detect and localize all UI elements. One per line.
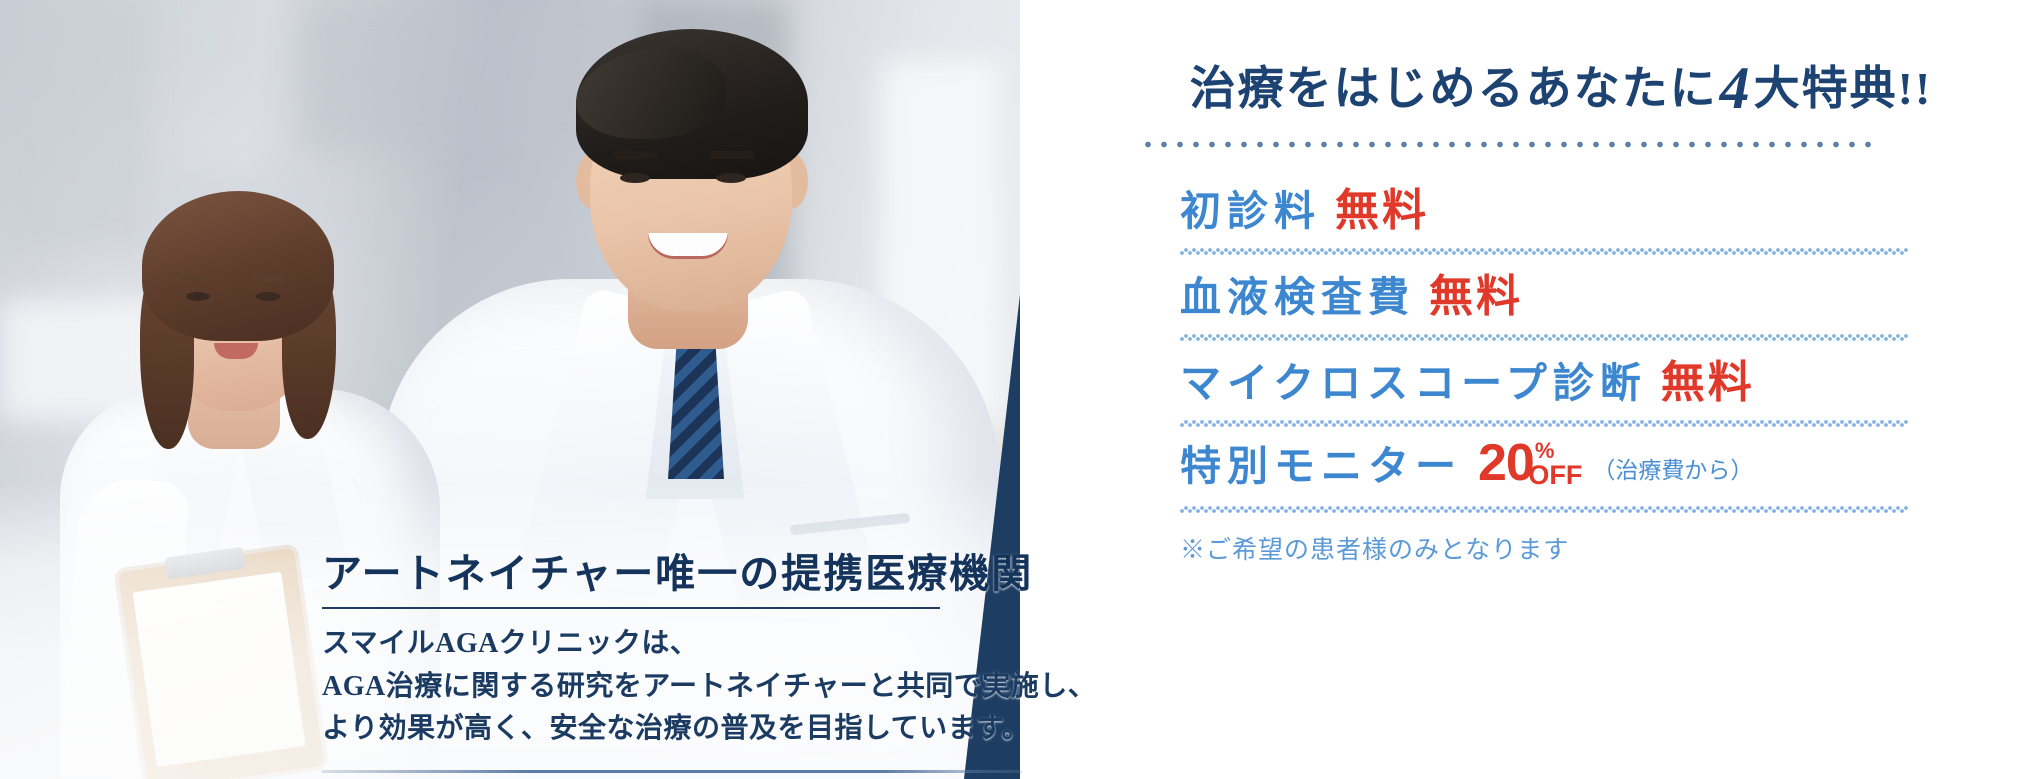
benefit-value: 無料 [1429, 260, 1523, 324]
benefit-row-content: マイクロスコープ診断 無料 [1180, 346, 1988, 420]
headline-underline [322, 607, 940, 609]
male-doctor-eye [716, 173, 746, 183]
benefit-label: 特別モニター [1180, 432, 1462, 492]
benefit-label: マイクロスコープ診断 [1180, 349, 1647, 409]
benefit-value: 無料 [1335, 174, 1429, 238]
title-dotted-rule [1140, 141, 1880, 148]
female-doctor-hair [142, 191, 334, 341]
clinic-intro-line-2: AGA治療に関する研究をアートネイチャーと共同で実施し、 [322, 666, 1022, 709]
female-doctor-eyebrow [252, 275, 284, 281]
promo-banner: アートネイチャー唯一の提携医療機関 スマイルAGAクリニックは、 AGA治療に関… [0, 0, 2032, 779]
benefit-row-content: 血液検査費 無料 [1180, 260, 1988, 334]
female-doctor-eye [256, 292, 280, 301]
benefits-title: 治療をはじめるあなたに4大特典!! [1134, 52, 1988, 123]
benefit-wave-rule [1180, 334, 1908, 342]
benefit-row-content: 初診料 無料 [1180, 174, 1988, 248]
benefit-row: 特別モニター 20%OFF （治療費から） [1180, 432, 1988, 514]
benefit-discount-number: 20 [1478, 434, 1534, 492]
clinic-intro-headline: アートネイチャー唯一の提携医療機関 [322, 551, 1022, 597]
male-doctor-eye [620, 173, 650, 183]
benefit-label: 血液検査費 [1180, 263, 1415, 323]
clinic-intro-block: アートネイチャー唯一の提携医療機関 スマイルAGAクリニックは、 AGA治療に関… [322, 551, 1022, 751]
male-doctor-eyebrow [710, 151, 754, 159]
benefit-row: 初診料 無料 [1180, 174, 1988, 256]
benefit-value: 無料 [1661, 346, 1755, 410]
benefit-label: 初診料 [1180, 177, 1321, 237]
benefits-panel: 治療をはじめるあなたに4大特典!! 初診料 無料 血液検査費 無料 [1020, 0, 2032, 779]
benefits-title-prefix: 治療をはじめるあなたに [1190, 63, 1718, 114]
clinic-intro-line-3: より効果が高く、安全な治療の普及を目指しています。 [322, 708, 1022, 751]
female-doctor-eyebrow [182, 275, 214, 281]
benefit-wave-rule [1180, 248, 1908, 256]
male-doctor-eyebrow [614, 151, 658, 159]
intro-bottom-rule [322, 770, 1022, 773]
benefit-row: マイクロスコープ診断 無料 [1180, 346, 1988, 428]
benefit-discount-off: OFF [1528, 460, 1582, 490]
clinic-intro-line-1: スマイルAGAクリニックは、 [322, 623, 1022, 666]
benefit-wave-rule [1180, 420, 1908, 428]
female-doctor-eye [186, 292, 210, 301]
benefit-note: （治療費から） [1592, 451, 1753, 485]
benefit-row: 血液検査費 無料 [1180, 260, 1988, 342]
benefit-wave-rule [1180, 506, 1908, 514]
benefit-discount: 20%OFF [1478, 433, 1582, 493]
benefits-list: 初診料 無料 血液検査費 無料 マイクロスコープ診断 無料 [1180, 174, 1988, 514]
benefits-title-suffix: 大特典!! [1754, 63, 1933, 114]
benefits-title-number: 4 [1720, 55, 1752, 121]
benefit-row-content: 特別モニター 20%OFF （治療費から） [1180, 432, 1988, 506]
benefits-footnote: ※ご希望の患者様のみとなります [1180, 530, 1988, 566]
